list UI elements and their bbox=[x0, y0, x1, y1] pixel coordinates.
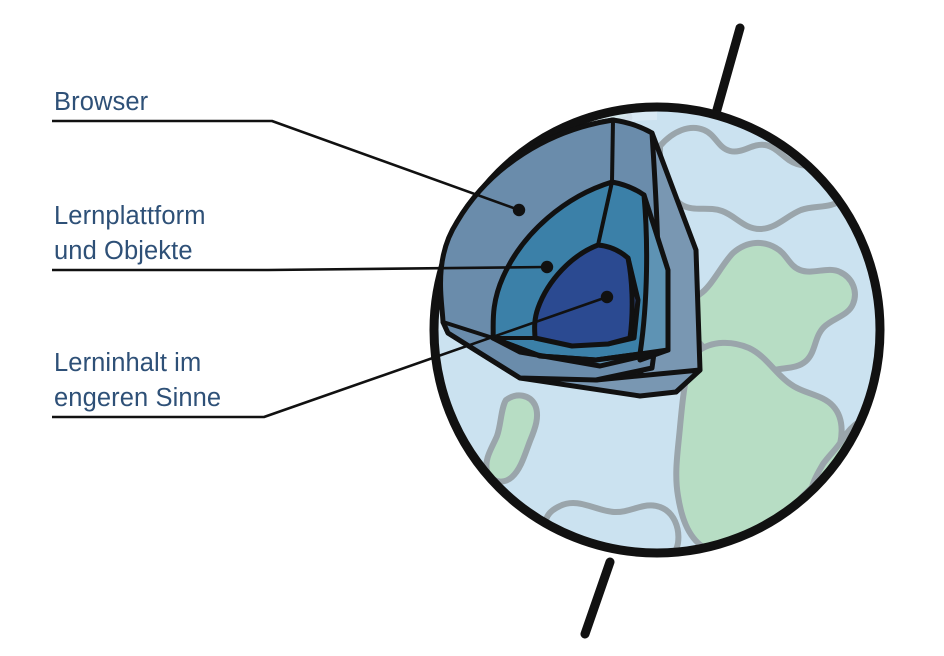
axis-bottom-segment bbox=[585, 562, 610, 634]
wedge-seam-vertical-outer bbox=[612, 120, 613, 182]
label-lerninhalt-line2: engeren Sinne bbox=[54, 384, 221, 412]
callout-labels: Browser Lernplattform und Objekte Lernin… bbox=[54, 88, 221, 412]
leader-dot-lernplattform bbox=[541, 261, 553, 273]
cutaway-wedge bbox=[441, 120, 700, 396]
label-lernplattform-line1: Lernplattform bbox=[54, 202, 206, 230]
label-lernplattform-line2: und Objekte bbox=[54, 237, 193, 265]
label-lerninhalt-line1: Lerninhalt im bbox=[54, 349, 201, 377]
diagram-canvas: Browser Lernplattform und Objekte Lernin… bbox=[0, 0, 944, 656]
globe-layer-diagram: Browser Lernplattform und Objekte Lernin… bbox=[0, 0, 944, 656]
leader-dot-lerninhalt bbox=[601, 291, 613, 303]
leader-dot-browser bbox=[513, 204, 525, 216]
leader-line-browser bbox=[52, 121, 519, 210]
label-browser-line1: Browser bbox=[54, 88, 149, 116]
